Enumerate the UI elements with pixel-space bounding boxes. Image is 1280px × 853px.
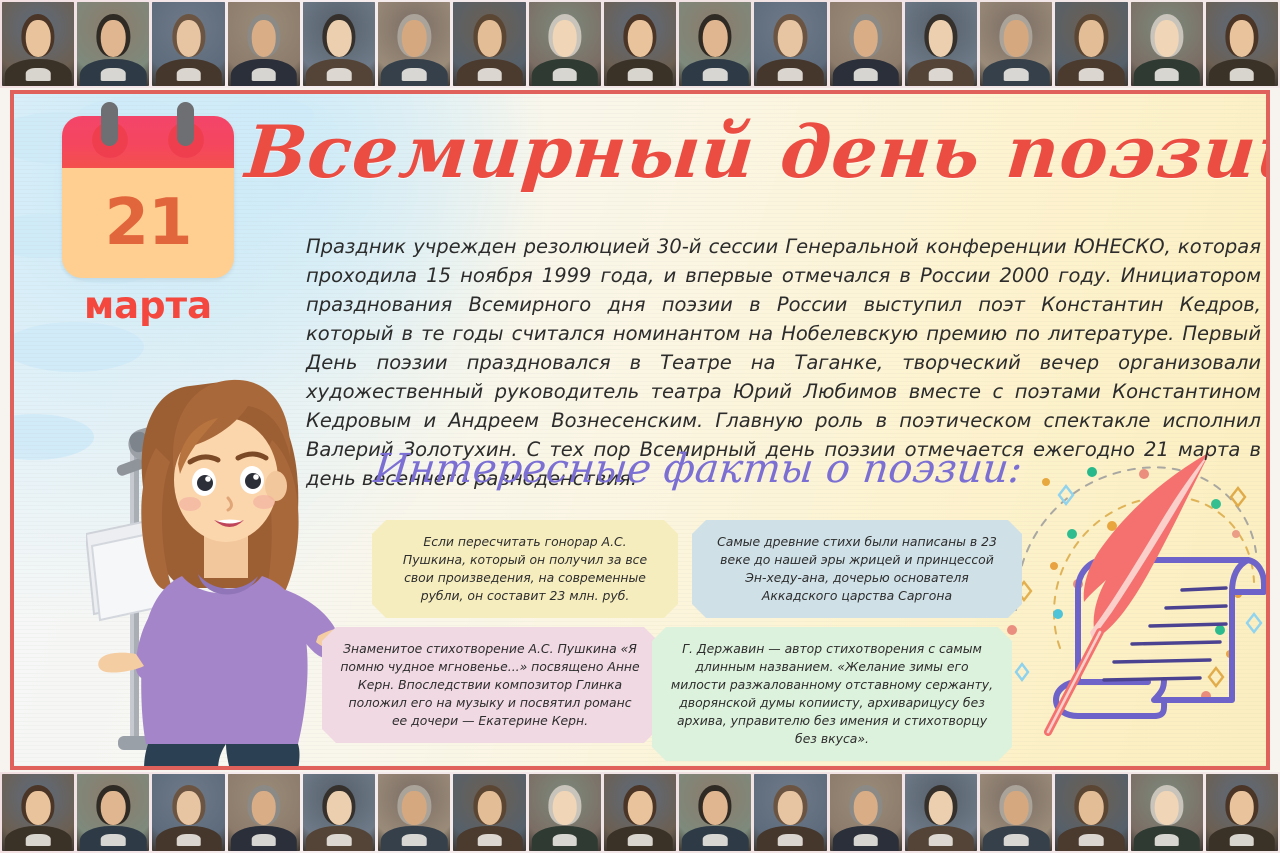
portrait-strip-top xyxy=(0,0,1280,88)
portrait-baratynsky xyxy=(378,774,450,851)
portrait-tsvetaeva xyxy=(378,2,450,86)
portrait-face xyxy=(176,20,201,57)
portrait-collar xyxy=(26,68,51,81)
portrait-yevtushenko xyxy=(529,2,601,86)
portrait-pasternak xyxy=(905,774,977,851)
portrait-face xyxy=(1230,791,1255,825)
portrait-nekrasov xyxy=(604,2,676,86)
fact-card-derzhavin-title: Г. Державин — автор стихотворения с самы… xyxy=(652,627,1012,761)
portrait-strip-bottom xyxy=(0,772,1280,853)
portrait-yesenin xyxy=(679,2,751,86)
portrait-collar xyxy=(327,68,352,81)
portrait-collar xyxy=(1154,834,1179,846)
portrait-face xyxy=(628,791,653,825)
fact-card-pushkin-fee: Если пересчитать гонорар А.С. Пушкина, к… xyxy=(372,520,678,618)
portrait-fet xyxy=(1131,774,1203,851)
blush-left xyxy=(179,497,201,511)
portrait-collar xyxy=(628,834,653,846)
portrait-collar xyxy=(1154,68,1179,81)
portrait-collar xyxy=(1079,68,1104,81)
poster-board: 21 марта Всемирный день поэзии Праздник … xyxy=(10,90,1270,770)
portrait-rozhdestvensky xyxy=(228,774,300,851)
calendar-ring xyxy=(101,102,118,146)
portrait-collar xyxy=(101,68,126,81)
portrait-collar xyxy=(402,834,427,846)
portrait-collar xyxy=(252,68,277,81)
portrait-face xyxy=(176,791,201,825)
portrait-face xyxy=(628,20,653,57)
portrait-face xyxy=(101,791,126,825)
portrait-face xyxy=(1154,791,1179,825)
portrait-collar xyxy=(477,68,502,81)
portrait-collar xyxy=(853,68,878,81)
page-title: Всемирный день поэзии xyxy=(243,116,1259,188)
portrait-collar xyxy=(552,834,577,846)
portrait-nekrasov xyxy=(830,774,902,851)
portrait-gogol xyxy=(905,2,977,86)
portrait-face xyxy=(402,20,427,57)
portrait-baratynsky xyxy=(228,2,300,86)
portrait-face xyxy=(1230,20,1255,57)
portrait-tvardovsky xyxy=(679,774,751,851)
blush-right xyxy=(253,495,275,509)
portrait-collar xyxy=(1004,834,1029,846)
portrait-face xyxy=(252,791,277,825)
portrait-koltsov xyxy=(152,774,224,851)
portrait-collar xyxy=(176,834,201,846)
portrait-collar xyxy=(1230,68,1255,81)
eye-glint xyxy=(253,474,259,480)
portrait-krylov xyxy=(453,774,525,851)
portrait-face xyxy=(853,791,878,825)
calendar-ring xyxy=(177,102,194,146)
calendar-month-label: марта xyxy=(56,284,240,327)
portrait-fet xyxy=(1131,2,1203,86)
cloud-decoration xyxy=(10,414,94,460)
portrait-collar xyxy=(703,68,728,81)
portrait-collar xyxy=(929,68,954,81)
portrait-face xyxy=(778,20,803,57)
calendar-block: 21 марта xyxy=(56,116,240,327)
portrait-mayakovsky xyxy=(77,774,149,851)
portrait-face xyxy=(402,791,427,825)
portrait-collar xyxy=(26,834,51,846)
portrait-blok xyxy=(754,2,826,86)
pupil-left xyxy=(197,475,213,491)
portrait-tyutchev xyxy=(980,2,1052,86)
portrait-lermontov xyxy=(77,2,149,86)
portrait-collar xyxy=(703,834,728,846)
portrait-dostoevsky xyxy=(453,2,525,86)
portrait-bunin xyxy=(1055,774,1127,851)
portrait-collar xyxy=(778,68,803,81)
portrait-face xyxy=(853,20,878,57)
portrait-face xyxy=(929,791,954,825)
portrait-lermontov xyxy=(529,774,601,851)
portrait-face xyxy=(1079,791,1104,825)
portrait-face xyxy=(101,20,126,57)
portrait-collar xyxy=(1230,834,1255,846)
portrait-collar xyxy=(252,834,277,846)
portrait-face xyxy=(1154,20,1179,57)
portrait-collar xyxy=(1079,834,1104,846)
pupil-right xyxy=(245,473,261,489)
portrait-blok xyxy=(754,774,826,851)
portrait-zabolotsky xyxy=(2,774,74,851)
portrait-collar xyxy=(327,834,352,846)
portrait-face xyxy=(703,791,728,825)
portrait-mandelstam xyxy=(604,774,676,851)
eye-glint xyxy=(205,476,211,482)
facts-heading: Интересные факты о поэзии: xyxy=(372,446,997,492)
portrait-pushkin xyxy=(1206,774,1278,851)
portrait-collar xyxy=(853,834,878,846)
portrait-mayakovsky xyxy=(1055,2,1127,86)
portrait-face xyxy=(552,791,577,825)
portrait-face xyxy=(26,791,51,825)
portrait-face xyxy=(929,20,954,57)
fact-card-oldest-poems: Самые древние стихи были написаны в 23 в… xyxy=(692,520,1022,618)
portrait-face xyxy=(327,20,352,57)
fact-card-kern-romance: Знаменитое стихотворение А.С. Пушкина «Я… xyxy=(322,627,658,743)
portrait-face xyxy=(477,791,502,825)
portrait-face xyxy=(327,791,352,825)
portrait-ahmatova xyxy=(980,774,1052,851)
portrait-vysotsky xyxy=(152,2,224,86)
portrait-collar xyxy=(628,68,653,81)
poetry-day-poster: 21 марта Всемирный день поэзии Праздник … xyxy=(0,0,1280,853)
portrait-voznesensky xyxy=(303,2,375,86)
portrait-derzhavin xyxy=(303,774,375,851)
calendar-day-number: 21 xyxy=(62,168,234,278)
portrait-collar xyxy=(1004,68,1029,81)
portrait-face xyxy=(252,20,277,57)
jeans xyxy=(226,744,300,770)
portrait-pasternak xyxy=(830,2,902,86)
portrait-collar xyxy=(402,68,427,81)
portrait-collar xyxy=(929,834,954,846)
portrait-face xyxy=(1079,20,1104,57)
portrait-collar xyxy=(552,68,577,81)
jeans xyxy=(144,744,226,770)
portrait-face xyxy=(477,20,502,57)
calendar-header-band xyxy=(62,116,234,168)
portrait-collar xyxy=(778,834,803,846)
portrait-face xyxy=(552,20,577,57)
calendar-icon: 21 xyxy=(62,116,234,278)
portrait-face xyxy=(778,791,803,825)
portrait-zabolotsky xyxy=(1206,2,1278,86)
portrait-pushkin xyxy=(2,2,74,86)
portrait-collar xyxy=(477,834,502,846)
portrait-collar xyxy=(176,68,201,81)
portrait-face xyxy=(26,20,51,57)
portrait-face xyxy=(1004,791,1029,825)
portrait-face xyxy=(1004,20,1029,57)
portrait-collar xyxy=(101,834,126,846)
portrait-face xyxy=(703,20,728,57)
